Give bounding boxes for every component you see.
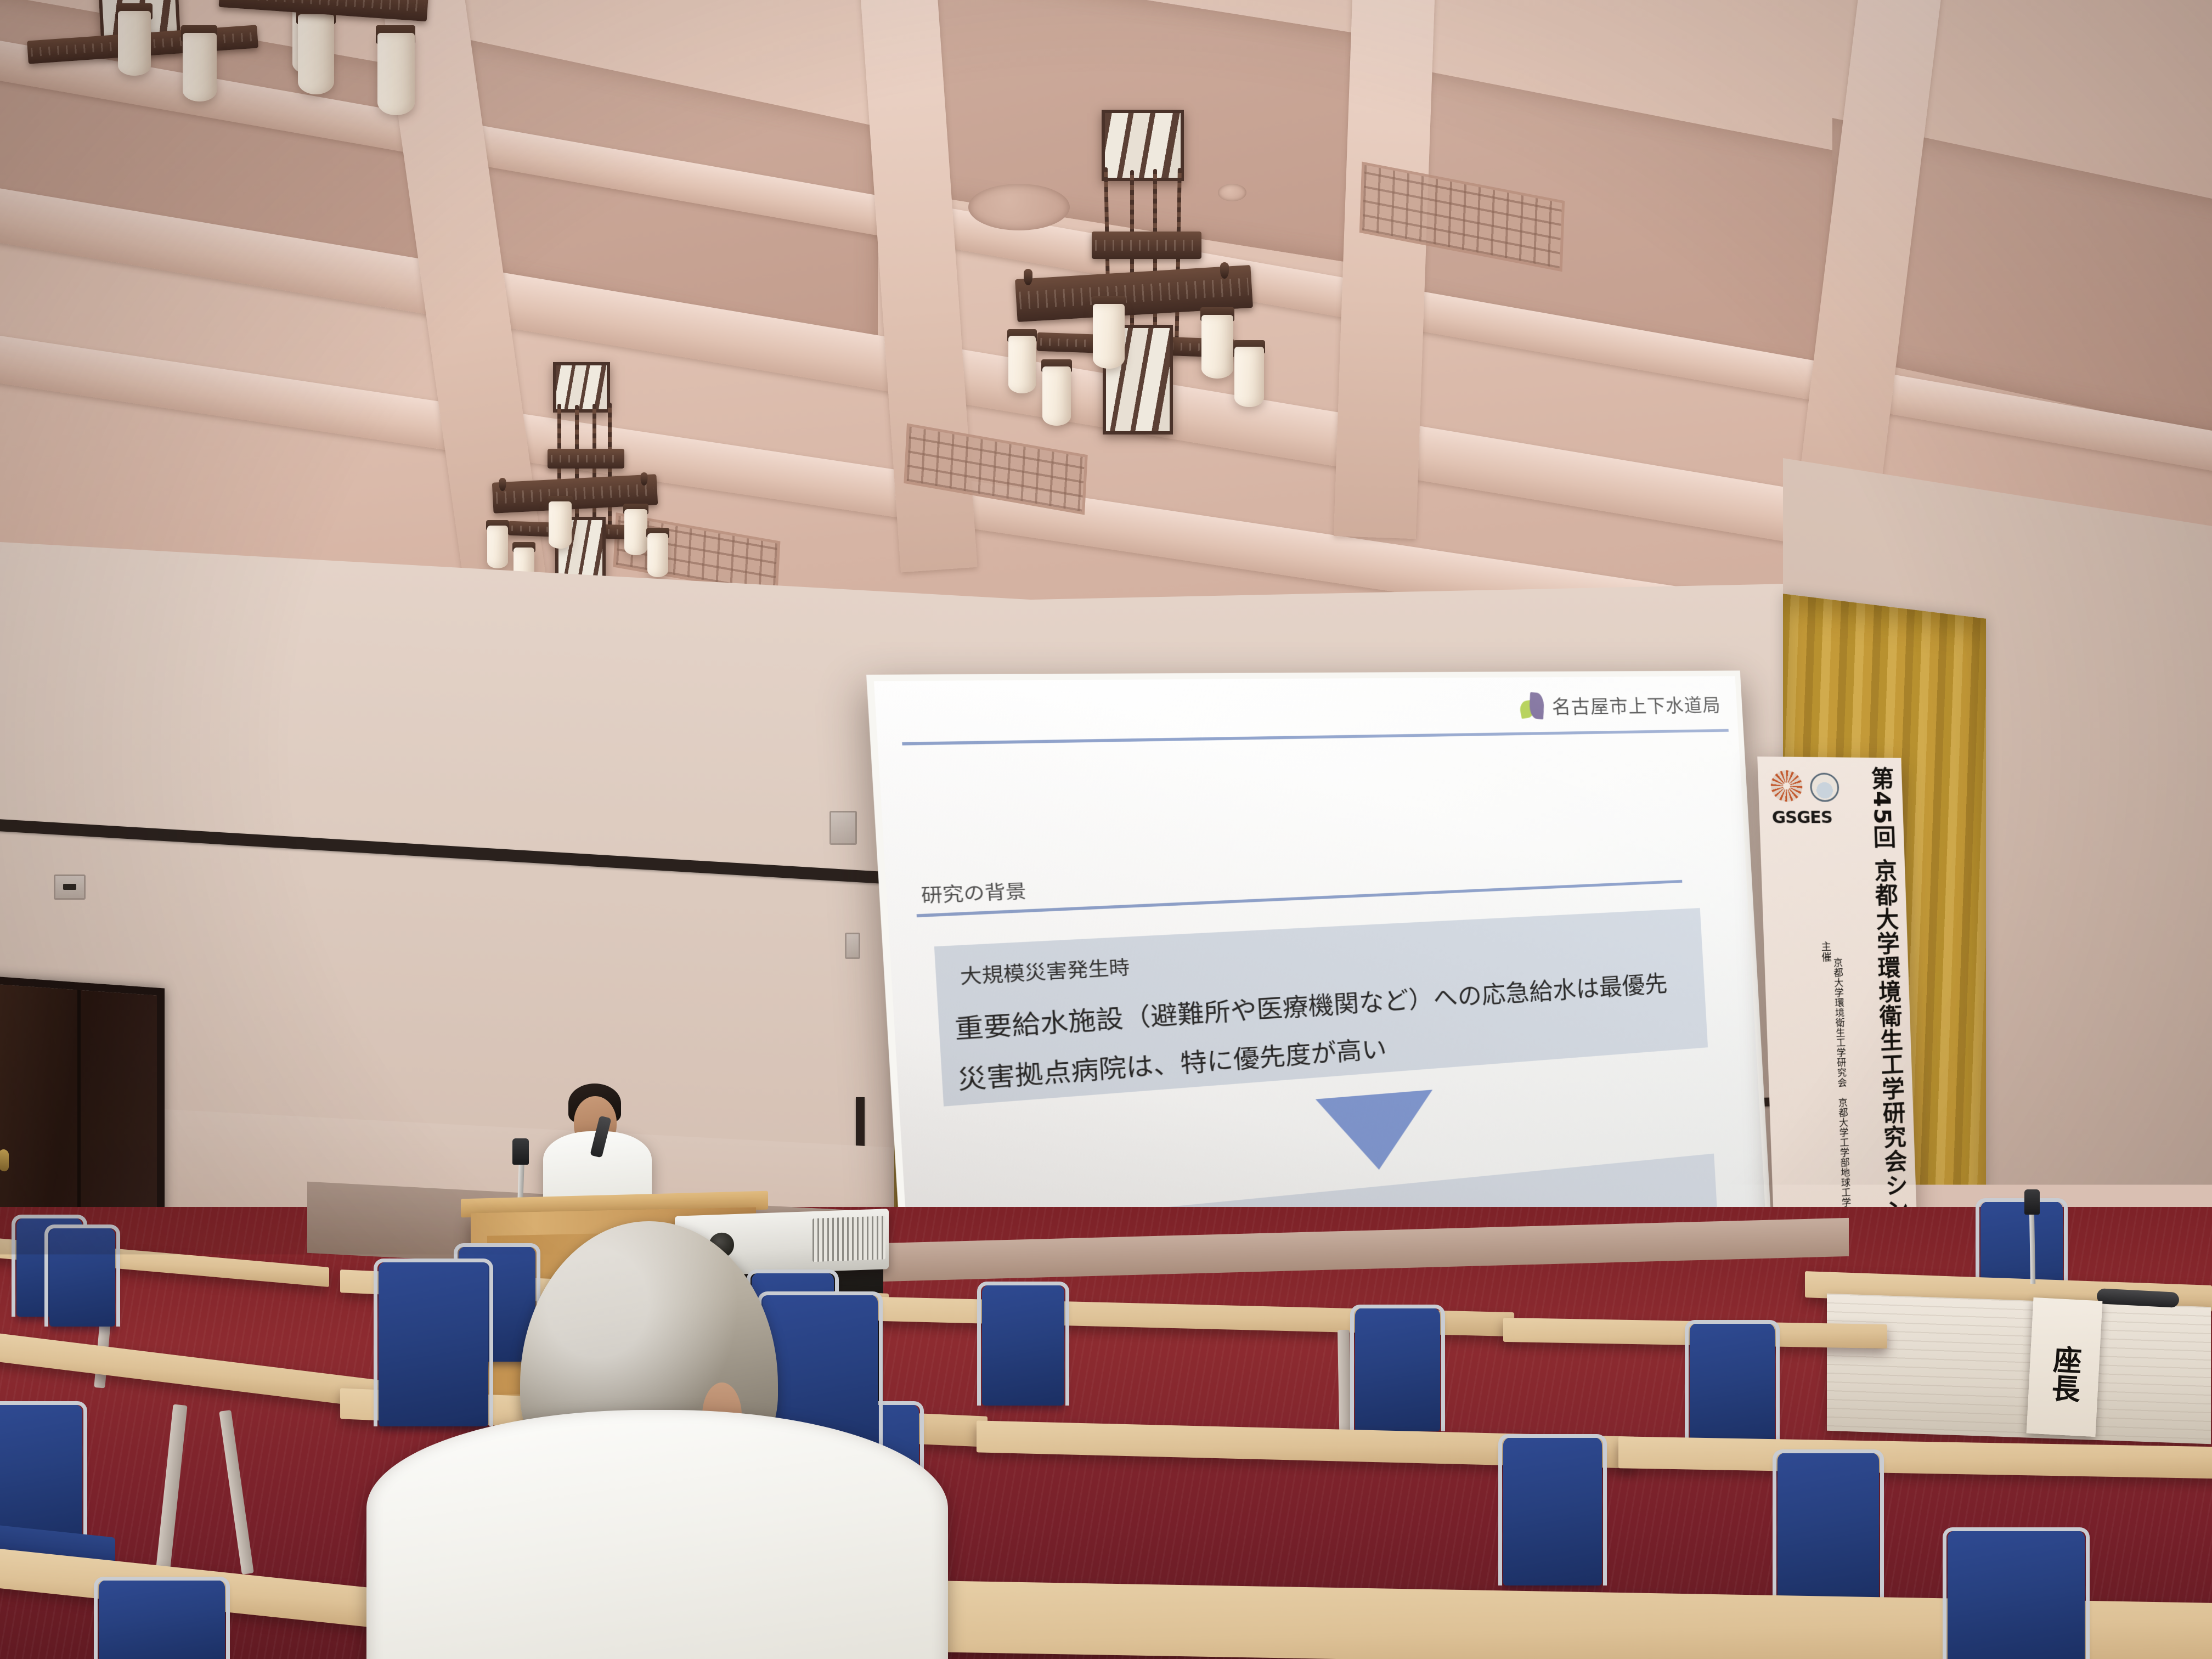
- chandelier-finial: [1024, 269, 1032, 285]
- down-arrow-icon: [1316, 1090, 1437, 1175]
- table-skirt: [1827, 1294, 2211, 1444]
- chair-frame: [1685, 1320, 1780, 1449]
- wall-sensor: [845, 933, 860, 959]
- chair-frame: [1943, 1527, 2090, 1659]
- chair[interactable]: [1355, 1308, 1440, 1431]
- chandelier-shade: [1234, 347, 1264, 407]
- slide-section-rule: [917, 880, 1683, 917]
- wall-switch-plate[interactable]: [54, 874, 86, 900]
- chair[interactable]: [1503, 1437, 1602, 1585]
- chandelier-shade: [183, 33, 217, 101]
- straw-fedora-hat: [1223, 1526, 1465, 1659]
- wall-speaker-panel: [830, 811, 857, 845]
- door-handle-icon[interactable]: [0, 1149, 9, 1171]
- waterworks-mark-icon: [1519, 692, 1546, 719]
- banner-organizers: 京都大学環境衛生工学研究会 京都大学工学部地球工学科環境工学コース 京都大学大学…: [1830, 957, 1865, 1241]
- chandelier-finial: [499, 478, 506, 491]
- chair[interactable]: [1778, 1453, 1879, 1604]
- chandelier-finial: [641, 472, 648, 486]
- chandelier-shade: [487, 526, 508, 568]
- chandelier-finial: [1220, 262, 1229, 279]
- nagoya-waterworks-logo: 名古屋市上下水道局: [1519, 691, 1722, 720]
- chandelier-left: [16, 0, 269, 143]
- chair-behind-attendee[interactable]: [379, 1262, 488, 1426]
- chandelier-center: [955, 110, 1295, 560]
- projector-vent-icon: [812, 1216, 885, 1262]
- chair-frame: [977, 1282, 1069, 1406]
- slide-logo-text: 名古屋市上下水道局: [1551, 691, 1721, 719]
- chandelier-chain: [575, 405, 579, 532]
- switch-slot-icon: [63, 884, 77, 890]
- chair-frame: [1498, 1434, 1607, 1585]
- banner-title: 第45回 京都大学環境衛生工学研究会シンポジウム: [1864, 766, 1916, 1241]
- chandelier-crossbar: [548, 449, 624, 469]
- chair-frame: [1350, 1305, 1445, 1431]
- chandelier-shade: [1042, 366, 1071, 426]
- chandelier-crossbar: [1092, 232, 1201, 259]
- chair[interactable]: [982, 1285, 1064, 1406]
- kyoto-university-emblem-icon: [1770, 770, 1803, 802]
- chair-frame: [0, 1401, 87, 1542]
- chandelier-chain: [1175, 168, 1182, 350]
- chair[interactable]: [1690, 1323, 1775, 1449]
- chairperson-sign: 座長: [2027, 1297, 2103, 1437]
- chair[interactable]: [0, 1404, 82, 1542]
- projection-screen: 名古屋市上下水道局 研究の背景 大規模災害発生時 重要給水施設（避難所や医療機関…: [982, 670, 1756, 1219]
- chairperson-sign-text: 座長: [2042, 1344, 2086, 1403]
- chair-frame: [94, 1577, 230, 1659]
- chandelier-shade: [298, 14, 334, 94]
- chandelier-shade: [549, 501, 572, 549]
- gsges-seal-icon: [1810, 772, 1839, 802]
- chandelier-shade: [1093, 304, 1125, 369]
- slide-section-title: 研究の背景: [920, 876, 1026, 908]
- symposium-banner: GSGES 第45回 京都大学環境衛生工学研究会シンポジウム 主催 京都大学環境…: [1767, 758, 1909, 1230]
- chandelier-shade: [1008, 336, 1036, 393]
- podium-mic-head-icon: [512, 1138, 529, 1165]
- chandelier-shade: [377, 33, 415, 115]
- chandelier-shade: [1201, 315, 1233, 379]
- gsges-wordmark: GSGES: [1771, 808, 1855, 828]
- chair-frame: [44, 1224, 120, 1327]
- gsges-logo: GSGES: [1770, 770, 1856, 828]
- chair[interactable]: [1948, 1531, 2085, 1659]
- chandelier-shade: [624, 509, 647, 555]
- chandelier-top-lantern: [1102, 110, 1184, 181]
- chandelier-shade: [118, 11, 151, 76]
- chair[interactable]: [49, 1228, 115, 1327]
- lecture-hall-photo: 名古屋市上下水道局 研究の背景 大規模災害発生時 重要給水施設（避難所や医療機関…: [0, 0, 2212, 1659]
- chair-table-mic-head-icon: [2024, 1189, 2040, 1215]
- slide-header-rule: [902, 729, 1729, 746]
- chair-frame: [374, 1259, 493, 1426]
- chandelier-top-lantern: [553, 362, 610, 413]
- chair[interactable]: [99, 1580, 225, 1659]
- chandelier-shade: [647, 533, 668, 577]
- chair-frame: [1773, 1449, 1884, 1604]
- attendee-shirt: [366, 1410, 948, 1659]
